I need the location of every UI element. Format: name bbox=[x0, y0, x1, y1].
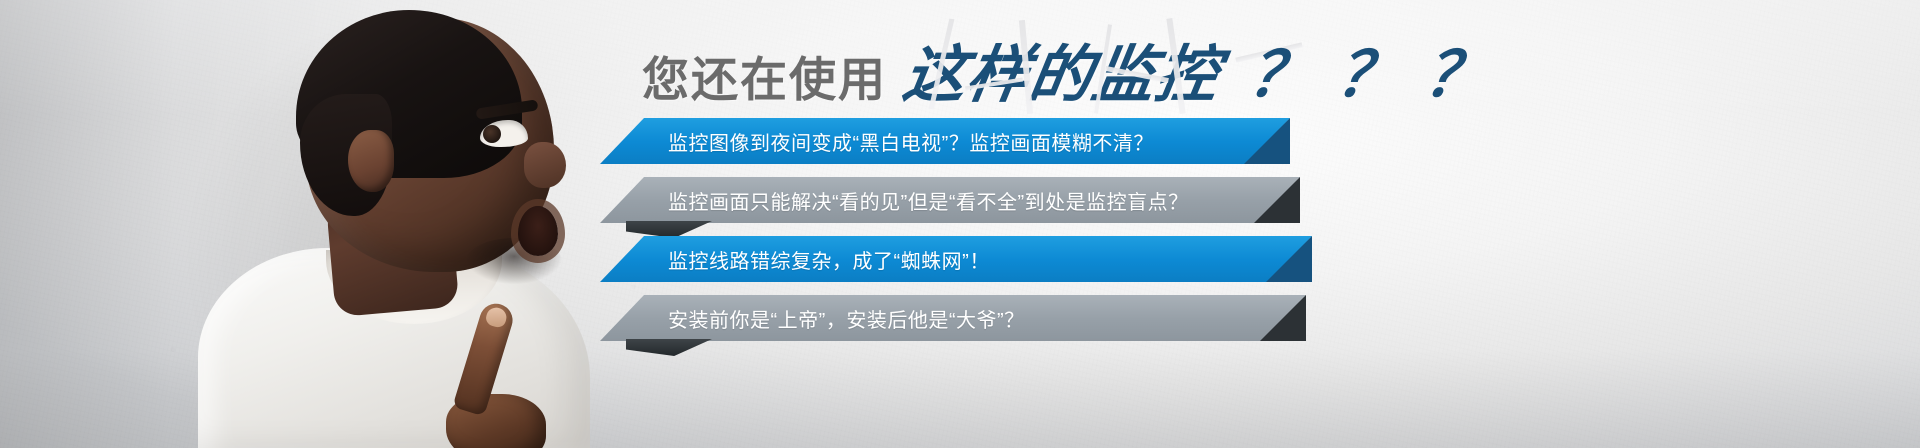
pain-point-list: 监控图像到夜间变成“黑白电视”？监控画面模糊不清？ 监控画面只能解决“看的见”但… bbox=[600, 118, 1900, 354]
pain-point-row-4: 安装前你是“上帝”，安装后他是“大爷”？ bbox=[600, 295, 1306, 341]
pain-point-row-2: 监控画面只能解决“看的见”但是“看不全”到处是监控盲点？ bbox=[600, 177, 1300, 223]
row-tail-4 bbox=[626, 339, 712, 356]
person-photo bbox=[180, 0, 640, 448]
promo-banner: 您还在使用 这样的监控 ？ ？ ？ 监控图像到夜间变成“黑白电视”？监控画面模糊… bbox=[0, 0, 1920, 448]
person-hand bbox=[438, 310, 558, 448]
person-ear bbox=[348, 130, 394, 192]
question-mark-2: ？ bbox=[1331, 24, 1407, 114]
pain-point-row-1: 监控图像到夜间变成“黑白电视”？监控画面模糊不清？ bbox=[600, 118, 1290, 164]
pain-point-label-1: 监控图像到夜间变成“黑白电视”？监控画面模糊不清？ bbox=[668, 127, 1154, 156]
pain-point-label-2: 监控画面只能解决“看的见”但是“看不全”到处是监控盲点？ bbox=[668, 186, 1189, 215]
headline-plain-text: 您还在使用 bbox=[642, 41, 887, 110]
pain-point-row-3: 监控线路错综复杂，成了“蜘蛛网”！ bbox=[600, 236, 1312, 282]
headline-question-marks: ？ ？ ？ bbox=[1250, 24, 1488, 114]
question-mark-3: ？ bbox=[1419, 24, 1495, 114]
headline-accent-text: 这样的监控 bbox=[898, 24, 1227, 114]
person-mouth bbox=[518, 206, 558, 256]
headline-accent-wrap: 这样的监控 bbox=[905, 24, 1220, 114]
person-nose bbox=[524, 142, 566, 188]
headline: 您还在使用 这样的监控 ？ ？ ？ bbox=[642, 24, 1488, 114]
question-mark-1: ？ bbox=[1243, 24, 1319, 114]
pain-point-label-3: 监控线路错综复杂，成了“蜘蛛网”！ bbox=[668, 245, 990, 274]
pain-point-label-4: 安装前你是“上帝”，安装后他是“大爷”？ bbox=[668, 304, 1025, 333]
